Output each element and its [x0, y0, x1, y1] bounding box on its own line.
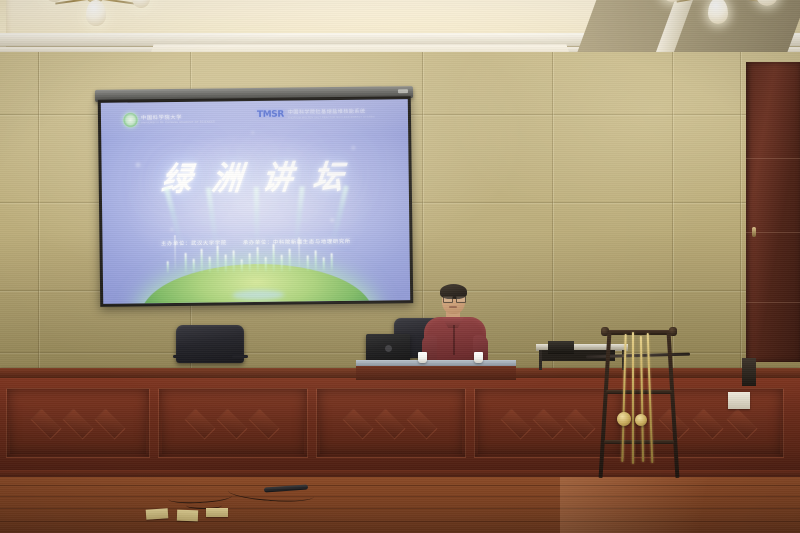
paper-cup-right[interactable]	[474, 352, 483, 363]
mouth	[449, 306, 457, 308]
laptop[interactable]	[366, 334, 410, 362]
stage-front-panel	[0, 378, 800, 476]
shirt-button-line	[453, 325, 455, 355]
wood-door[interactable]	[746, 62, 800, 362]
lecture-hall-photo: 中国科学院大学 UNIVERSITY OF CHINESE ACADEMY OF…	[0, 0, 800, 533]
light-globe	[132, 0, 150, 8]
gaffer-tape-pad	[146, 508, 169, 520]
stage-carved-panel	[316, 388, 466, 458]
eyeglasses-icon	[443, 296, 464, 301]
rack-top-bar	[603, 330, 675, 335]
rack-crossbar	[606, 390, 672, 394]
screen-frame: 中国科学院大学 UNIVERSITY OF CHINESE ACADEMY OF…	[98, 96, 414, 307]
projection-screen: 中国科学院大学 UNIVERSITY OF CHINESE ACADEMY OF…	[99, 88, 412, 306]
paper-cup-left[interactable]	[418, 352, 427, 363]
light-globe	[86, 0, 106, 26]
chandelier-right	[660, 0, 780, 32]
projected-slide: 中国科学院大学 UNIVERSITY OF CHINESE ACADEMY OF…	[101, 99, 410, 304]
gaffer-tape-pad	[206, 508, 228, 517]
gong-disc	[617, 412, 631, 426]
light-globe	[708, 0, 728, 24]
gong-disc	[635, 414, 647, 426]
dark-floor-object	[742, 358, 756, 386]
stage-carved-panel	[6, 388, 150, 458]
light-globe	[756, 0, 778, 6]
gaffer-tape-pad	[177, 510, 198, 522]
rack-crossbar	[604, 440, 674, 444]
stage-carved-panel	[158, 388, 308, 458]
laptop-lid-logo	[385, 345, 392, 352]
chair-left[interactable]	[176, 325, 244, 369]
instrument-stand-rack[interactable]	[601, 330, 677, 478]
brass-pole	[632, 332, 634, 464]
speaker-box	[548, 341, 574, 354]
floor-reflection	[560, 477, 800, 533]
mic-boom-arm	[586, 353, 690, 359]
white-floor-box	[728, 392, 750, 409]
head-table-body	[356, 366, 516, 380]
chandelier-left	[40, 0, 150, 34]
roller-end-cap	[398, 89, 408, 93]
door-knob[interactable]	[752, 227, 756, 237]
